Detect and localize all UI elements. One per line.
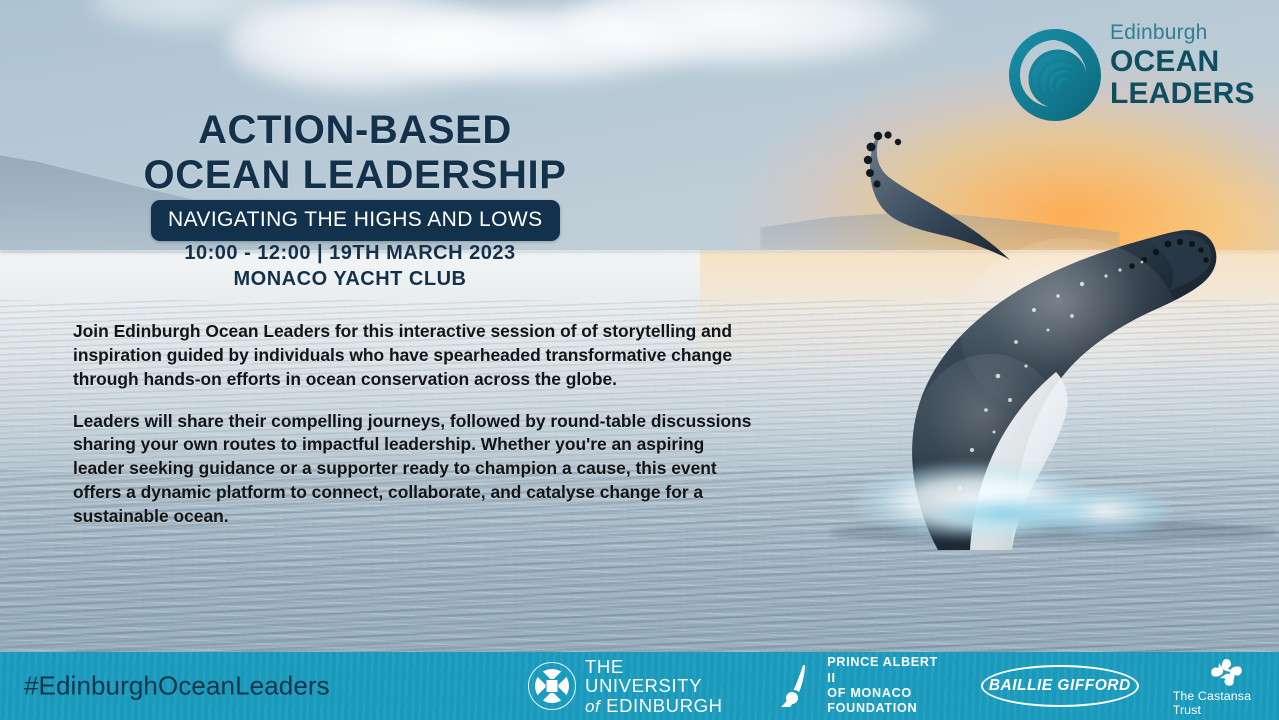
uoe-of: of	[585, 697, 600, 716]
event-poster: ACTION-BASED OCEAN LEADERSHIP NAVIGATING…	[0, 0, 1279, 720]
pa2-line-1: PRINCE ALBERT II	[827, 655, 944, 686]
water-splash-blue	[900, 492, 1110, 538]
brand-eyebrow: Edinburgh	[1110, 22, 1270, 43]
event-time-date: 10:00 - 12:00 | 19TH MARCH 2023	[0, 240, 700, 266]
edinburgh-crest-icon	[528, 662, 576, 710]
ellipse-outline-icon: BAILLIE GIFFORD	[981, 665, 1139, 707]
footer-bar: #EdinburghOceanLeaders THE UNIVERSITY of…	[0, 652, 1279, 720]
edinburgh-ocean-leaders-logo: Edinburgh OCEAN LEADERS	[1008, 22, 1268, 126]
event-venue: MONACO YACHT CLUB	[0, 266, 700, 292]
headline-line-2: OCEAN LEADERSHIP	[0, 153, 710, 198]
brand-line-2: LEADERS	[1110, 78, 1270, 110]
hashtag: #EdinburghOceanLeaders	[24, 671, 330, 702]
uoe-edinburgh: EDINBURGH	[606, 695, 722, 716]
subtitle-badge: NAVIGATING THE HIGHS AND LOWS	[151, 200, 560, 241]
prince-albert-a-mark-icon	[773, 663, 819, 709]
pa2-line-2: OF MONACO	[827, 686, 944, 701]
body-copy: Join Edinburgh Ocean Leaders for this in…	[73, 320, 753, 529]
uoe-line-1: THE UNIVERSITY	[585, 657, 739, 696]
event-details-block: 10:00 - 12:00 | 19TH MARCH 2023 MONACO Y…	[0, 240, 700, 292]
uoe-line-2: of EDINBURGH	[585, 696, 739, 716]
paragraph-2: Leaders will share their compelling jour…	[73, 410, 753, 529]
partner-logo-prince-albert-ii-foundation: PRINCE ALBERT II OF MONACO FOUNDATION	[773, 655, 944, 716]
partner-logo-baillie-gifford: BAILLIE GIFFORD	[981, 665, 1139, 707]
partner-logo-university-of-edinburgh: THE UNIVERSITY of EDINBURGH	[528, 657, 739, 716]
partner-logos: THE UNIVERSITY of EDINBURGH PRINCE ALBER…	[520, 652, 1279, 720]
pa2-line-3: FOUNDATION	[827, 701, 944, 716]
pinwheel-figures-icon	[1206, 656, 1246, 688]
brand-wordmark: Edinburgh OCEAN LEADERS	[1110, 22, 1270, 110]
paragraph-1: Join Edinburgh Ocean Leaders for this in…	[73, 320, 753, 392]
headline-block: ACTION-BASED OCEAN LEADERSHIP	[0, 108, 710, 198]
baillie-gifford-label: BAILLIE GIFFORD	[989, 677, 1131, 695]
castansa-label: The Castansa Trust	[1173, 689, 1279, 717]
brand-line-1: OCEAN	[1110, 46, 1270, 78]
partner-logo-castansa-trust: The Castansa Trust	[1173, 656, 1279, 717]
spiral-wave-icon	[1008, 28, 1102, 122]
headline-line-1: ACTION-BASED	[0, 108, 710, 153]
